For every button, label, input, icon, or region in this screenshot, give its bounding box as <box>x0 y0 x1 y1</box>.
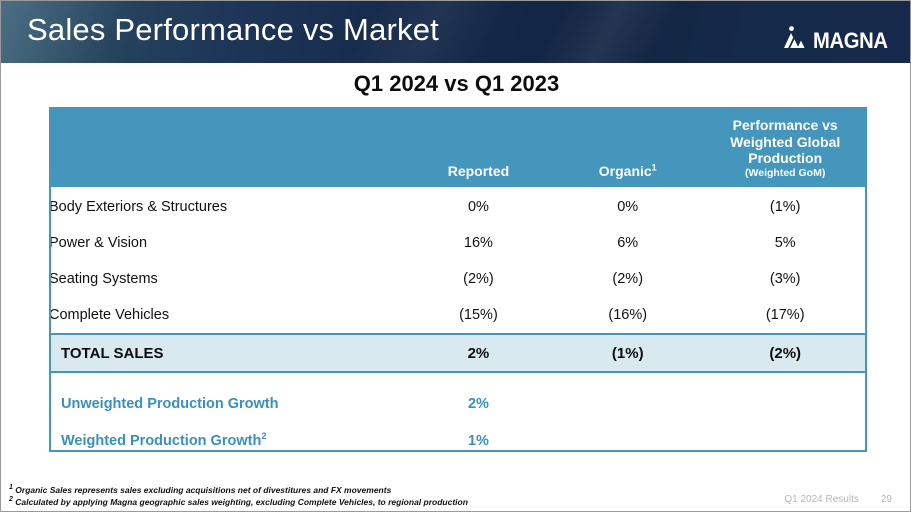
magna-wordmark: MAGNA <box>813 30 888 52</box>
cell-organic: 6% <box>552 225 703 261</box>
table-header-row: Reported Organic1 Performance vs Weighte… <box>49 107 867 187</box>
performance-table: Reported Organic1 Performance vs Weighte… <box>49 107 867 471</box>
cell-organic: 0% <box>552 187 703 225</box>
cell-reported: 16% <box>405 225 552 261</box>
row-label: Body Exteriors & Structures <box>49 187 405 225</box>
table-body-growth: Unweighted Production Growth 2% Weighted… <box>49 372 867 471</box>
gom-header-line-3: Production <box>703 150 867 166</box>
footnote-2-marker: 2 <box>9 496 13 503</box>
growth-label-weighted-text: Weighted Production Growth <box>61 433 261 449</box>
page-number: 29 <box>881 494 892 505</box>
table-header: Reported Organic1 Performance vs Weighte… <box>49 107 867 187</box>
total-sales-row: TOTAL SALES 2% (1%) (2%) <box>49 334 867 372</box>
gom-header-line-1: Performance vs <box>703 117 867 133</box>
table-body-total: TOTAL SALES 2% (1%) (2%) <box>49 334 867 372</box>
footnote-2: 2 Calculated by applying Magna geographi… <box>9 496 468 508</box>
footnote-1-text: Organic Sales represents sales excluding… <box>15 485 391 495</box>
weighted-production-growth-row: Weighted Production Growth2 1% <box>49 422 867 471</box>
growth-label-unweighted: Unweighted Production Growth <box>49 372 405 422</box>
column-header-organic: Organic1 <box>552 107 703 187</box>
table-row: Body Exteriors & Structures 0% 0% (1%) <box>49 187 867 225</box>
deck-name: Q1 2024 Results <box>784 494 859 505</box>
growth-value-weighted: 1% <box>405 422 552 471</box>
cell-reported: 0% <box>405 187 552 225</box>
title-banner: Sales Performance vs Market MAGNA <box>1 1 911 63</box>
unweighted-production-growth-row: Unweighted Production Growth 2% <box>49 372 867 422</box>
cell-gom: (1%) <box>703 187 867 225</box>
table-row: Power & Vision 16% 6% 5% <box>49 225 867 261</box>
magna-mountain-icon <box>782 26 808 55</box>
column-header-reported: Reported <box>405 107 552 187</box>
total-reported: 2% <box>405 334 552 372</box>
cell-gom: (3%) <box>703 261 867 297</box>
column-header-weighted-gom: Performance vs Weighted Global Productio… <box>703 107 867 187</box>
growth-gom-unweighted <box>703 372 867 422</box>
footnote-2-text: Calculated by applying Magna geographic … <box>15 497 468 507</box>
cell-gom: 5% <box>703 225 867 261</box>
row-label: Complete Vehicles <box>49 297 405 334</box>
total-gom: (2%) <box>703 334 867 372</box>
cell-organic: (2%) <box>552 261 703 297</box>
footnotes: 1 Organic Sales represents sales excludi… <box>9 484 468 509</box>
row-label: Seating Systems <box>49 261 405 297</box>
growth-value-unweighted: 2% <box>405 372 552 422</box>
gom-header-line-2: Weighted Global <box>703 134 867 150</box>
column-header-organic-label: Organic <box>599 163 652 179</box>
growth-gom-weighted <box>703 422 867 471</box>
growth-organic-unweighted <box>552 372 703 422</box>
page-title: Sales Performance vs Market <box>27 12 439 48</box>
growth-organic-weighted <box>552 422 703 471</box>
cell-reported: (2%) <box>405 261 552 297</box>
weighted-growth-footnote-marker: 2 <box>261 431 266 441</box>
cell-organic: (16%) <box>552 297 703 334</box>
footnote-1-marker: 1 <box>9 484 13 491</box>
table-body-segments: Body Exteriors & Structures 0% 0% (1%) P… <box>49 187 867 334</box>
row-label: Power & Vision <box>49 225 405 261</box>
gom-header-subtext: (Weighted GoM) <box>703 167 867 179</box>
magna-logo: MAGNA <box>782 26 894 55</box>
table-row: Complete Vehicles (15%) (16%) (17%) <box>49 297 867 334</box>
slide: Sales Performance vs Market MAGNA Q1 202… <box>0 0 911 512</box>
cell-reported: (15%) <box>405 297 552 334</box>
footnote-1: 1 Organic Sales represents sales excludi… <box>9 484 468 496</box>
performance-table-wrap: Reported Organic1 Performance vs Weighte… <box>49 107 867 471</box>
growth-label-weighted: Weighted Production Growth2 <box>49 422 405 471</box>
organic-footnote-marker: 1 <box>652 162 657 172</box>
table-row: Seating Systems (2%) (2%) (3%) <box>49 261 867 297</box>
slide-footer: Q1 2024 Results 29 <box>784 494 892 505</box>
column-header-reported-label: Reported <box>448 163 509 179</box>
total-label: TOTAL SALES <box>49 334 405 372</box>
cell-gom: (17%) <box>703 297 867 334</box>
column-header-segment <box>49 107 405 187</box>
slide-subtitle: Q1 2024 vs Q1 2023 <box>1 71 911 97</box>
total-organic: (1%) <box>552 334 703 372</box>
